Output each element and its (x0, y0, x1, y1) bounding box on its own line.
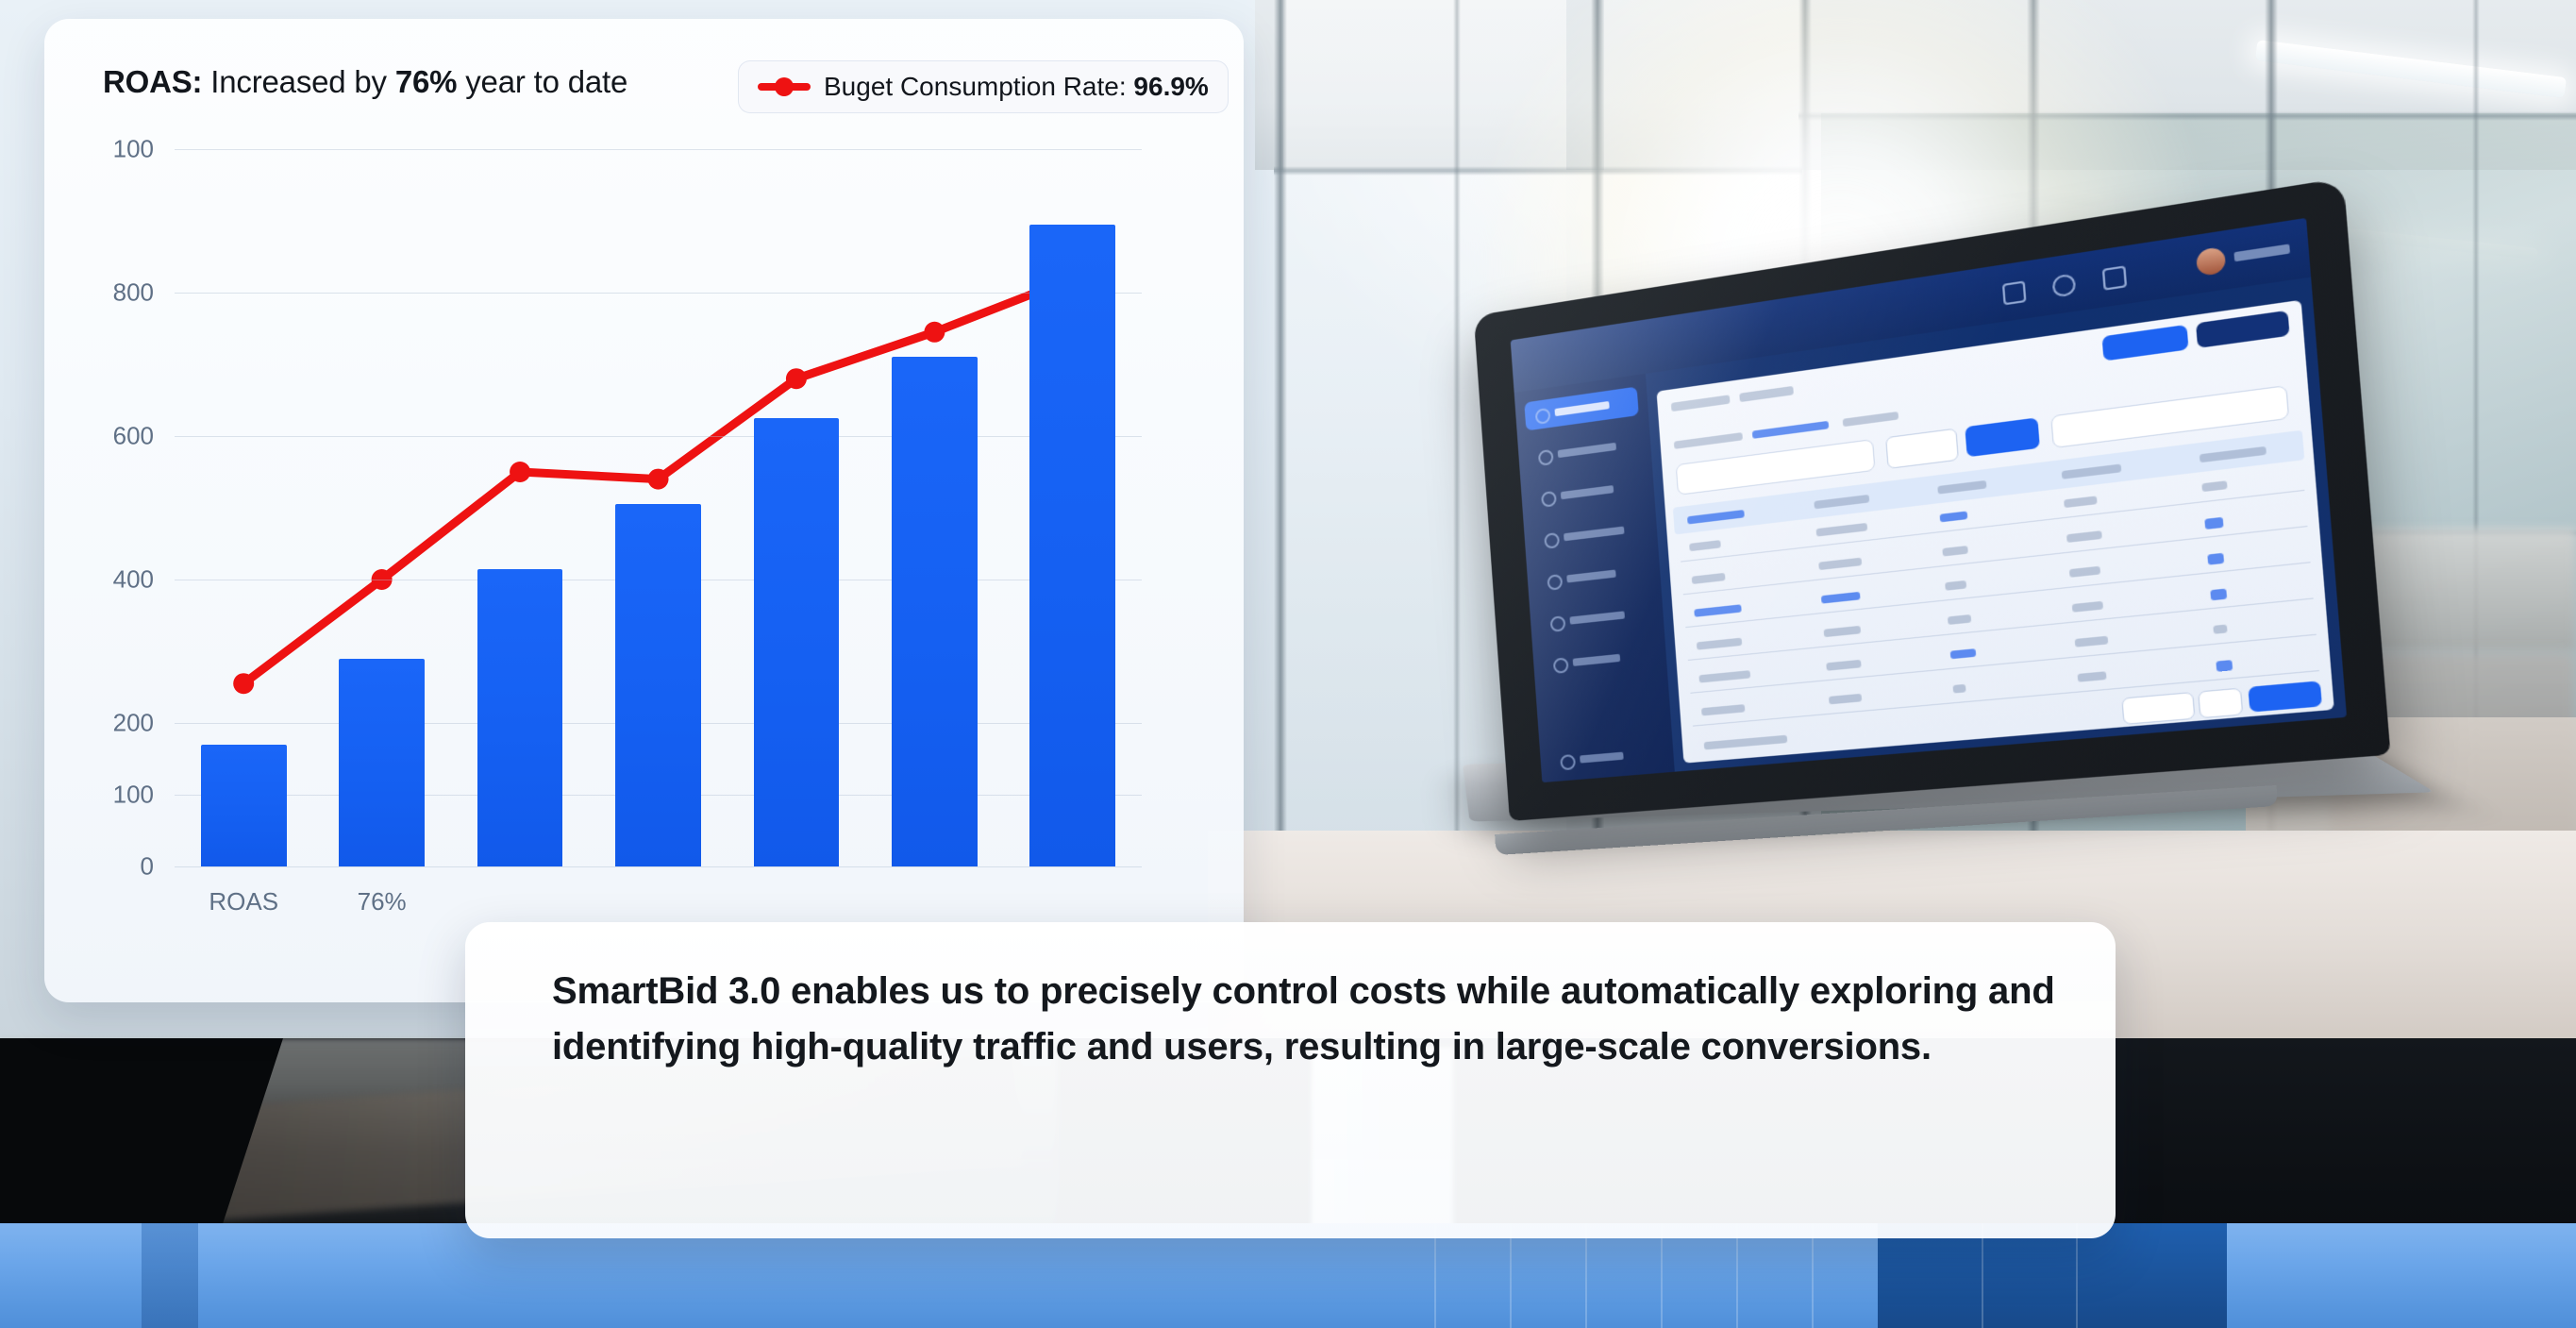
table-cell (1952, 684, 1965, 694)
grid-line (175, 149, 1142, 150)
y-axis-tick-label: 200 (113, 709, 154, 738)
glass-line-1 (1434, 1223, 1436, 1328)
glass-line-2 (1510, 1223, 1512, 1328)
sidebar-item-billing[interactable] (1539, 597, 1654, 638)
sidebar-item-label (1554, 401, 1609, 416)
chart-title-suffix: year to date (457, 64, 627, 99)
filter-button[interactable] (1885, 429, 1959, 470)
sidebar-item-dashboard[interactable] (1524, 387, 1639, 431)
line-marker (924, 322, 945, 343)
grid-line (175, 436, 1142, 437)
table-cell (1948, 614, 1971, 625)
y-axis-tick-label: 100 (113, 135, 154, 164)
glass-line-3 (1585, 1223, 1587, 1328)
dashboard-sidebar (1514, 374, 1675, 782)
sidebar-item-campaigns[interactable] (1527, 429, 1642, 472)
previous-page-button[interactable] (2121, 692, 2195, 725)
chart-bar (201, 745, 287, 866)
sidebar-item-label (1580, 752, 1624, 764)
legend-label-text: Buget Consumption Rate: (824, 72, 1133, 101)
grid-line (175, 866, 1142, 867)
blue-glass-building (0, 1223, 2576, 1328)
y-axis-tick-label: 600 (113, 422, 154, 451)
avatar[interactable] (2196, 246, 2226, 277)
reports-icon (1547, 574, 1563, 591)
y-axis-tick-label: 800 (113, 278, 154, 308)
page-number-button[interactable] (2198, 688, 2243, 719)
chart-bar (339, 659, 425, 866)
table-cell (1824, 626, 1862, 637)
dashboard-icon (1535, 408, 1551, 425)
line-marker (786, 368, 807, 389)
sidebar-item-account[interactable] (1549, 738, 1665, 777)
chart-plot-area: 1008006004002001000ROAS76% (175, 149, 1142, 866)
testimonial-caption-card: SmartBid 3.0 enables us to precisely con… (465, 922, 2116, 1238)
glass-line-6 (1812, 1223, 1814, 1328)
line-with-dot-marker-icon (758, 83, 811, 91)
table-cell (1940, 511, 1968, 522)
table-cell (1816, 523, 1868, 537)
sidebar-item-label (1573, 654, 1621, 666)
tab-overview[interactable] (1674, 432, 1743, 449)
line-marker (648, 469, 669, 490)
sidebar-item-label (1569, 611, 1625, 624)
secondary-action-button[interactable] (2196, 311, 2290, 348)
table-cell (1829, 694, 1862, 705)
billing-icon (1550, 615, 1566, 632)
account-icon (1560, 754, 1576, 770)
table-cell (1818, 558, 1862, 570)
table-cell (1826, 660, 1861, 671)
table-cell (2064, 496, 2098, 508)
glass-line-5 (1736, 1223, 1738, 1328)
apps-grid-icon[interactable] (2102, 265, 2127, 291)
sidebar-item-label (1564, 527, 1624, 542)
caption-text: SmartBid 3.0 enables us to precisely con… (552, 964, 2062, 1075)
tab-performance[interactable] (1752, 421, 1829, 439)
table-cell (1942, 546, 1967, 557)
sidebar-item-label (1566, 569, 1615, 582)
line-marker (233, 673, 254, 694)
help-icon[interactable] (2051, 273, 2076, 297)
sidebar-item-creatives[interactable] (1531, 471, 1646, 513)
grid-line (175, 293, 1142, 294)
glass-line-4 (1661, 1223, 1663, 1328)
table-cell (1694, 604, 1741, 617)
glass-line-7 (1982, 1223, 1983, 1328)
x-axis-tick-label: ROAS (209, 887, 278, 916)
table-cell (1950, 648, 1977, 659)
audiences-icon (1544, 532, 1560, 549)
tab-settings[interactable] (1843, 412, 1899, 427)
table-cell (2069, 566, 2100, 578)
glass-line-8 (2076, 1223, 2078, 1328)
chart-bar (892, 357, 978, 866)
line-marker (510, 462, 530, 482)
sidebar-item-label (1561, 485, 1614, 499)
laptop-device: SmartBid 3.0 (1510, 311, 2321, 906)
table-cell (2216, 660, 2233, 672)
table-cell (2207, 553, 2224, 565)
table-cell (1945, 580, 1966, 591)
chart-bar (477, 569, 563, 866)
next-page-button[interactable] (2248, 681, 2322, 712)
sidebar-item-reports[interactable] (1536, 555, 1651, 597)
glass-dark-panel-2 (142, 1223, 198, 1328)
dashboard-main-panel (1656, 300, 2333, 764)
roas-chart-card: ROAS: Increased by 76% year to date Buge… (44, 19, 1244, 1002)
table-cell (2072, 601, 2103, 613)
laptop-screen (1511, 218, 2347, 782)
pagination-summary (1704, 735, 1788, 750)
legend-label-value: 96.9% (1133, 72, 1208, 101)
legend-label: Buget Consumption Rate: 96.9% (824, 72, 1209, 102)
table-cell (1689, 540, 1721, 551)
table-cell (2201, 480, 2227, 492)
table-cell (1821, 592, 1861, 604)
table-cell (1692, 573, 1726, 584)
table-cell (2204, 517, 2223, 530)
table-cell (1697, 638, 1742, 650)
breadcrumb[interactable] (1671, 395, 1731, 412)
table-cell (2213, 625, 2227, 634)
table-cell (2066, 530, 2102, 543)
glass-dark-panel (1878, 1223, 2227, 1328)
chart-title-rest: Increased by (202, 64, 394, 99)
campaigns-icon (1538, 449, 1554, 466)
y-axis-tick-label: 0 (141, 852, 154, 882)
table-cell (1698, 670, 1750, 682)
chart-bar (1029, 225, 1115, 866)
sidebar-item-settings[interactable] (1542, 640, 1657, 680)
apply-button[interactable] (1965, 417, 2040, 457)
table-cell (2210, 589, 2227, 601)
x-axis-tick-label: 76% (358, 887, 407, 916)
chart-legend[interactable]: Buget Consumption Rate: 96.9% (738, 60, 1229, 113)
settings-icon (1553, 657, 1569, 674)
primary-action-button[interactable] (2101, 325, 2188, 361)
creatives-icon (1541, 491, 1557, 508)
table-cell (1701, 704, 1745, 715)
sidebar-item-audiences[interactable] (1533, 513, 1648, 555)
y-axis-tick-label: 100 (113, 781, 154, 810)
chart-title: ROAS: Increased by 76% year to date (103, 64, 627, 100)
chart-title-prefix: ROAS: (103, 64, 202, 99)
y-axis-tick-label: 400 (113, 565, 154, 595)
chart-title-metric: 76% (395, 64, 457, 99)
bell-icon[interactable] (2002, 280, 2027, 305)
sidebar-item-label (1558, 443, 1616, 458)
breadcrumb-current (1739, 386, 1794, 402)
chart-bar (615, 504, 701, 866)
chart-bar (754, 418, 840, 866)
table-cell (2075, 636, 2109, 647)
account-name-placeholder (2233, 244, 2290, 261)
table-cell (2078, 671, 2107, 681)
screenshot-stage: SmartBid 3.0 ROAS: Increased by 76% year… (0, 0, 2576, 1328)
